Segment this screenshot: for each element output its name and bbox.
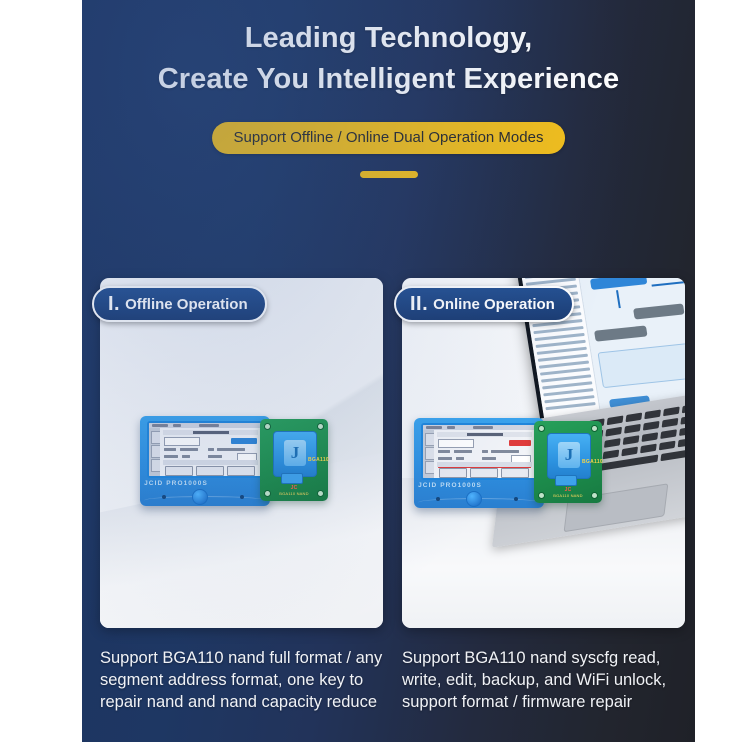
tag-offline-operation: I. Offline Operation <box>92 286 267 322</box>
field-value-a <box>180 448 198 451</box>
device-screen-bezel <box>147 421 263 478</box>
format-button[interactable] <box>196 466 224 476</box>
tag-online-operation: II. Online Operation <box>394 286 574 322</box>
device-power-button[interactable] <box>192 489 208 505</box>
field-label-c-online <box>438 457 452 460</box>
flow-info-box <box>597 334 685 388</box>
device-brand-label: JCID PRO1000S <box>140 480 212 487</box>
progress-bar-online <box>437 462 532 467</box>
device-pro1000s-online: JCID PRO1000S J <box>414 418 602 508</box>
flow-arrow-4 <box>616 290 621 308</box>
device-body: JCID PRO1000S <box>140 416 270 506</box>
format-button-online[interactable] <box>470 468 498 478</box>
field-label-b-online <box>482 450 488 453</box>
screen-status-header <box>163 430 258 435</box>
page-canvas: Leading Technology, Create You Intellige… <box>0 0 750 750</box>
socket-logo: J <box>284 440 306 466</box>
fixture-text-online: JC BGA110 NAND <box>534 487 602 498</box>
reduce-button-online[interactable] <box>501 468 529 478</box>
screen-sidebar-tabs[interactable] <box>149 428 160 476</box>
device-pro1000s: JCID PRO1000S J <box>140 416 328 506</box>
reduce-button[interactable] <box>227 466 255 476</box>
device-body-online: JCID PRO1000S <box>414 418 544 508</box>
fixture-sub-online: BGA110 NAND <box>553 493 582 498</box>
device-screen <box>149 423 261 476</box>
socket-logo-online: J <box>558 442 580 468</box>
accent-divider <box>360 171 418 178</box>
fixture-sub: BGA110 NAND <box>279 491 308 496</box>
device-led-right <box>240 495 244 499</box>
socket-latch[interactable] <box>281 473 303 484</box>
promo-stage: Leading Technology, Create You Intellige… <box>82 0 695 742</box>
device-led-left <box>162 495 166 499</box>
screen-content-online <box>434 430 535 478</box>
device-led-left-online <box>436 497 440 501</box>
title-line-1: Leading Technology, <box>245 22 533 54</box>
socket-latch-online[interactable] <box>555 475 577 486</box>
repair-button-online[interactable] <box>439 468 467 478</box>
tag-numeral-1: I. <box>108 294 120 314</box>
device-brand-label-online: JCID PRO1000S <box>414 482 486 489</box>
bga110-fixture-online: J JC BGA110 NAND BGA110 <box>534 421 602 503</box>
panel-online: JCID PRO1000S J <box>402 278 685 628</box>
chip-socket[interactable]: J <box>273 431 317 477</box>
device-screen-bezel-online <box>421 423 537 480</box>
field-value-c <box>182 455 190 458</box>
field-label-d <box>208 455 222 458</box>
field-label-a <box>164 448 176 451</box>
tag-numeral-2: II. <box>410 294 428 314</box>
chip-socket-online[interactable]: J <box>547 433 591 479</box>
field-value-b-online <box>491 450 519 453</box>
model-dropdown-online[interactable] <box>438 439 474 448</box>
title-line-2: Create You Intelligent Experience <box>82 59 695 100</box>
panel-offline: JCID PRO1000S J <box>100 278 383 628</box>
device-power-button-online[interactable] <box>466 491 482 507</box>
screen-content <box>160 428 261 476</box>
flow-node-5[interactable] <box>594 325 648 341</box>
fixture-side-label-online: BGA110 <box>582 459 603 465</box>
flow-node-4[interactable] <box>633 303 685 319</box>
progress-bar <box>163 460 258 465</box>
field-label-b <box>208 448 214 451</box>
mode-badge-online <box>509 440 531 446</box>
flow-node-3[interactable] <box>590 278 647 290</box>
caption-online: Support BGA110 nand syscfg read, write, … <box>402 648 687 714</box>
offline-photo: JCID PRO1000S J <box>100 278 383 628</box>
tag-label-1: Offline Operation <box>125 296 248 313</box>
field-value-b <box>217 448 245 451</box>
field-label-c <box>164 455 178 458</box>
flow-arrow-3 <box>652 278 685 287</box>
fixture-side-label: BGA110 <box>308 457 329 463</box>
field-label-d-online <box>482 457 496 460</box>
field-label-a-online <box>438 450 450 453</box>
caption-offline: Support BGA110 nand full format / any se… <box>100 648 385 714</box>
model-dropdown[interactable] <box>164 437 200 446</box>
page-title: Leading Technology, Create You Intellige… <box>82 18 695 100</box>
online-photo: JCID PRO1000S J <box>402 278 685 628</box>
field-value-a-online <box>454 450 472 453</box>
support-modes-badge: Support Offline / Online Dual Operation … <box>212 122 566 154</box>
repair-button[interactable] <box>165 466 193 476</box>
field-value-c-online <box>456 457 464 460</box>
screen-button-row[interactable] <box>163 466 258 474</box>
device-led-right-online <box>514 497 518 501</box>
screen-status-header-online <box>437 432 532 437</box>
mode-badge <box>231 438 257 444</box>
bga110-fixture: J JC BGA110 NAND BGA110 <box>260 419 328 501</box>
device-screen-online <box>423 425 535 478</box>
tag-label-2: Online Operation <box>433 296 555 313</box>
fixture-text: JC BGA110 NAND <box>260 485 328 496</box>
screen-sidebar-tabs-online[interactable] <box>423 430 434 478</box>
screen-button-row-online[interactable] <box>437 468 532 476</box>
